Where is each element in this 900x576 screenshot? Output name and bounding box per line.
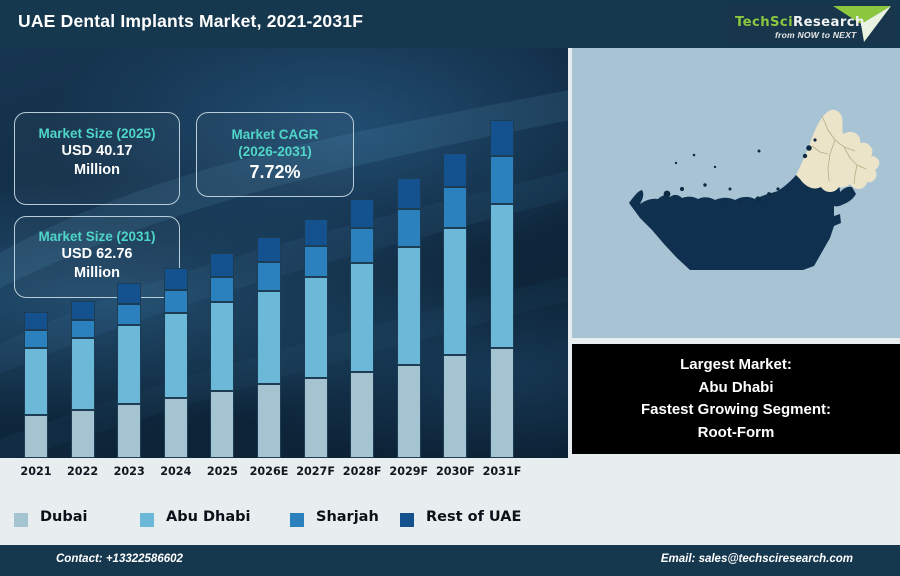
- page-title: UAE Dental Implants Market, 2021-2031F: [18, 11, 363, 32]
- bar-2021[interactable]: [24, 312, 48, 458]
- legend-label: Abu Dhabi: [166, 509, 250, 525]
- bar-segment-sharjah[interactable]: [24, 330, 48, 348]
- legend-label: Sharjah: [316, 509, 379, 525]
- bar-segment-sharjah[interactable]: [257, 262, 281, 291]
- bar-segment-rest-of-uae[interactable]: [164, 268, 188, 291]
- x-axis: 202120222023202420252026E2027F2028F2029F…: [0, 458, 568, 497]
- bar-segment-dubai[interactable]: [490, 348, 514, 458]
- bar-segment-rest-of-uae[interactable]: [257, 237, 281, 262]
- bar-segment-dubai[interactable]: [397, 365, 421, 458]
- bar-segment-rest-of-uae[interactable]: [24, 312, 48, 330]
- bar-segment-dubai[interactable]: [443, 355, 467, 458]
- bar-2028F[interactable]: [350, 199, 374, 458]
- bar-segment-sharjah[interactable]: [210, 277, 234, 303]
- bar-2022[interactable]: [71, 301, 95, 458]
- legend-label: Dubai: [40, 509, 88, 525]
- bar-segment-dubai[interactable]: [117, 404, 141, 458]
- bar-segment-rest-of-uae[interactable]: [350, 199, 374, 228]
- bar-2026E[interactable]: [257, 237, 281, 458]
- x-axis-label-2031F: 2031F: [475, 465, 529, 478]
- bar-2024[interactable]: [164, 268, 188, 458]
- bar-2023[interactable]: [117, 283, 141, 458]
- stacked-bar-chart: [0, 48, 568, 497]
- bar-segment-sharjah[interactable]: [397, 209, 421, 247]
- logo-tagline: from NOW to NEXT: [775, 30, 857, 40]
- infographic-root: UAE Dental Implants Market, 2021-2031F T…: [0, 0, 900, 576]
- bar-segment-rest-of-uae[interactable]: [117, 283, 141, 304]
- fastest-segment-value: Root-Form: [641, 422, 831, 445]
- body-area: Market Size (2025) USD 40.17 Million Mar…: [0, 48, 900, 545]
- bar-segment-sharjah[interactable]: [164, 290, 188, 313]
- footer-contact: Contact: +13322586602: [56, 553, 183, 565]
- bar-segment-abu-dhabi[interactable]: [397, 247, 421, 365]
- fastest-segment-label: Fastest Growing Segment:: [641, 399, 831, 422]
- uae-map-svg: [572, 48, 900, 338]
- header-bar: UAE Dental Implants Market, 2021-2031F T…: [0, 0, 900, 48]
- bar-segment-dubai[interactable]: [71, 410, 95, 458]
- bar-segment-sharjah[interactable]: [71, 320, 95, 339]
- bar-segment-dubai[interactable]: [24, 415, 48, 458]
- bar-segment-abu-dhabi[interactable]: [490, 204, 514, 348]
- chart-panel: Market Size (2025) USD 40.17 Million Mar…: [0, 48, 568, 497]
- bar-segment-rest-of-uae[interactable]: [443, 153, 467, 186]
- legend-swatch: [140, 513, 154, 527]
- bar-segment-sharjah[interactable]: [443, 187, 467, 228]
- bar-segment-abu-dhabi[interactable]: [71, 338, 95, 410]
- bar-2027F[interactable]: [304, 219, 328, 458]
- bar-segment-dubai[interactable]: [164, 398, 188, 458]
- bar-segment-sharjah[interactable]: [350, 228, 374, 262]
- bar-segment-abu-dhabi[interactable]: [443, 228, 467, 355]
- bar-segment-sharjah[interactable]: [117, 304, 141, 325]
- bar-segment-abu-dhabi[interactable]: [24, 348, 48, 415]
- bar-2025[interactable]: [210, 253, 234, 458]
- bar-2031F[interactable]: [490, 120, 514, 458]
- bar-segment-dubai[interactable]: [304, 378, 328, 458]
- legend-label: Rest of UAE: [426, 509, 521, 525]
- key-facts-box: Largest Market: Abu Dhabi Fastest Growin…: [572, 344, 900, 454]
- bar-2030F[interactable]: [443, 153, 467, 458]
- legend-swatch: [400, 513, 414, 527]
- logo-wordmark: TechSciResearch: [735, 15, 865, 30]
- footer-email: Email: sales@techsciresearch.com: [661, 553, 853, 565]
- bar-segment-abu-dhabi[interactable]: [210, 302, 234, 390]
- bar-segment-sharjah[interactable]: [490, 156, 514, 205]
- bar-segment-dubai[interactable]: [257, 384, 281, 458]
- bar-segment-rest-of-uae[interactable]: [210, 253, 234, 277]
- techsci-logo[interactable]: TechSciResearch from NOW to NEXT: [727, 3, 895, 45]
- bar-segment-dubai[interactable]: [210, 391, 234, 458]
- bar-segment-abu-dhabi[interactable]: [164, 313, 188, 398]
- bar-segment-abu-dhabi[interactable]: [257, 291, 281, 385]
- chart-legend: DubaiAbu DhabiSharjahRest of UAE: [0, 497, 568, 545]
- logo-brand-part1: TechSci: [735, 15, 793, 30]
- key-facts-inner: Largest Market: Abu Dhabi Fastest Growin…: [641, 354, 831, 444]
- bar-segment-abu-dhabi[interactable]: [117, 325, 141, 404]
- bar-segment-rest-of-uae[interactable]: [304, 219, 328, 246]
- bar-segment-dubai[interactable]: [350, 372, 374, 458]
- footer-bar: Contact: +13322586602 Email: sales@techs…: [0, 545, 900, 576]
- largest-market-label: Largest Market:: [641, 354, 831, 377]
- bar-segment-abu-dhabi[interactable]: [304, 277, 328, 378]
- legend-swatch: [14, 513, 28, 527]
- largest-market-value: Abu Dhabi: [641, 377, 831, 400]
- bar-segment-rest-of-uae[interactable]: [490, 120, 514, 156]
- bar-segment-sharjah[interactable]: [304, 246, 328, 277]
- bar-segment-abu-dhabi[interactable]: [350, 263, 374, 372]
- uae-map: [572, 48, 900, 338]
- logo-brand-part2: Research: [793, 15, 865, 30]
- bar-segment-rest-of-uae[interactable]: [397, 178, 421, 209]
- bar-2029F[interactable]: [397, 178, 421, 458]
- legend-swatch: [290, 513, 304, 527]
- bar-segment-rest-of-uae[interactable]: [71, 301, 95, 320]
